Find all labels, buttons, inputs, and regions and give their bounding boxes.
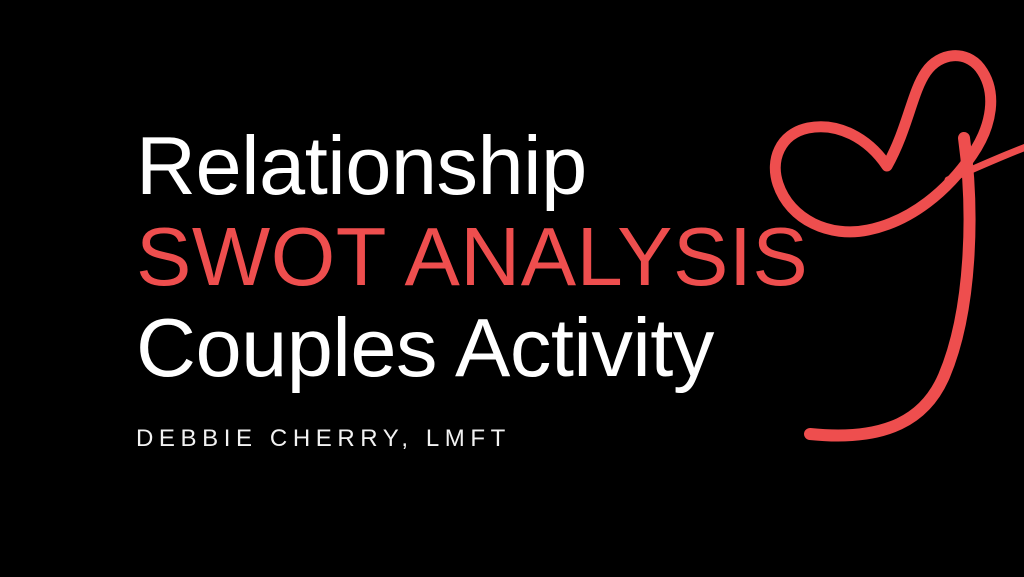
headline-line-1: Relationship <box>136 120 796 211</box>
author-byline: DEBBIE CHERRY, LMFT <box>136 425 511 453</box>
title-text-block: Relationship SWOT ANALYSIS Couples Activ… <box>136 120 796 393</box>
title-slide: Relationship SWOT ANALYSIS Couples Activ… <box>0 0 1024 577</box>
heart-flourish-path <box>948 136 1024 180</box>
page-title: Relationship SWOT ANALYSIS Couples Activ… <box>136 120 796 393</box>
heart-outline-path <box>775 56 990 232</box>
heart-tail-path <box>810 138 969 436</box>
headline-line-2-swot: SWOT ANALYSIS <box>136 211 796 302</box>
headline-line-3: Couples Activity <box>136 302 796 393</box>
